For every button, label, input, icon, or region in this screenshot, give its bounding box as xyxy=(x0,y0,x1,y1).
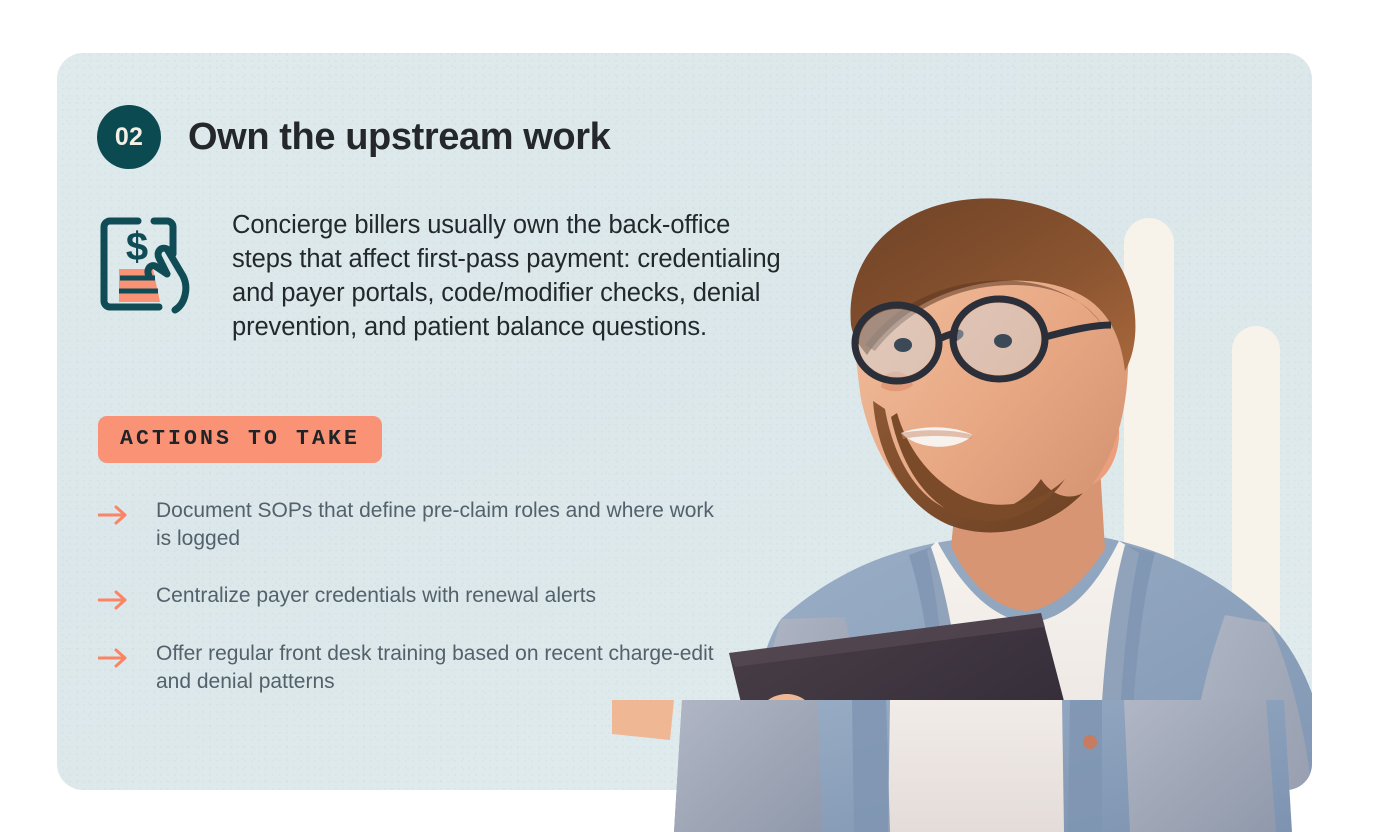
page-title: Own the upstream work xyxy=(188,116,610,159)
list-item-label: Offer regular front desk training based … xyxy=(156,640,718,696)
body-paragraph: Concierge billers usually own the back-o… xyxy=(232,208,792,344)
arrow-right-icon xyxy=(98,647,129,669)
list-item: Document SOPs that define pre-claim role… xyxy=(98,497,718,553)
arrow-right-icon xyxy=(98,504,129,526)
page-root: 02 Own the upstream work $ xyxy=(0,0,1374,832)
arrow-right-icon xyxy=(98,589,129,611)
list-item: Offer regular front desk training based … xyxy=(98,640,718,696)
actions-list: Document SOPs that define pre-claim role… xyxy=(98,497,718,725)
list-item-label: Document SOPs that define pre-claim role… xyxy=(156,497,718,553)
body-row: $ Concierge billers usually own the back… xyxy=(97,208,792,344)
invoice-hand-icon: $ xyxy=(97,214,193,314)
step-number-badge: 02 xyxy=(97,105,161,169)
person-photo-overflow xyxy=(612,700,1312,832)
list-item: Centralize payer credentials with renewa… xyxy=(98,582,718,611)
svg-text:$: $ xyxy=(126,225,148,269)
list-item-label: Centralize payer credentials with renewa… xyxy=(156,582,596,610)
feature-card: 02 Own the upstream work $ xyxy=(57,53,1312,790)
title-row: 02 Own the upstream work xyxy=(97,105,610,169)
actions-to-take-badge: ACTIONS TO TAKE xyxy=(98,416,382,463)
